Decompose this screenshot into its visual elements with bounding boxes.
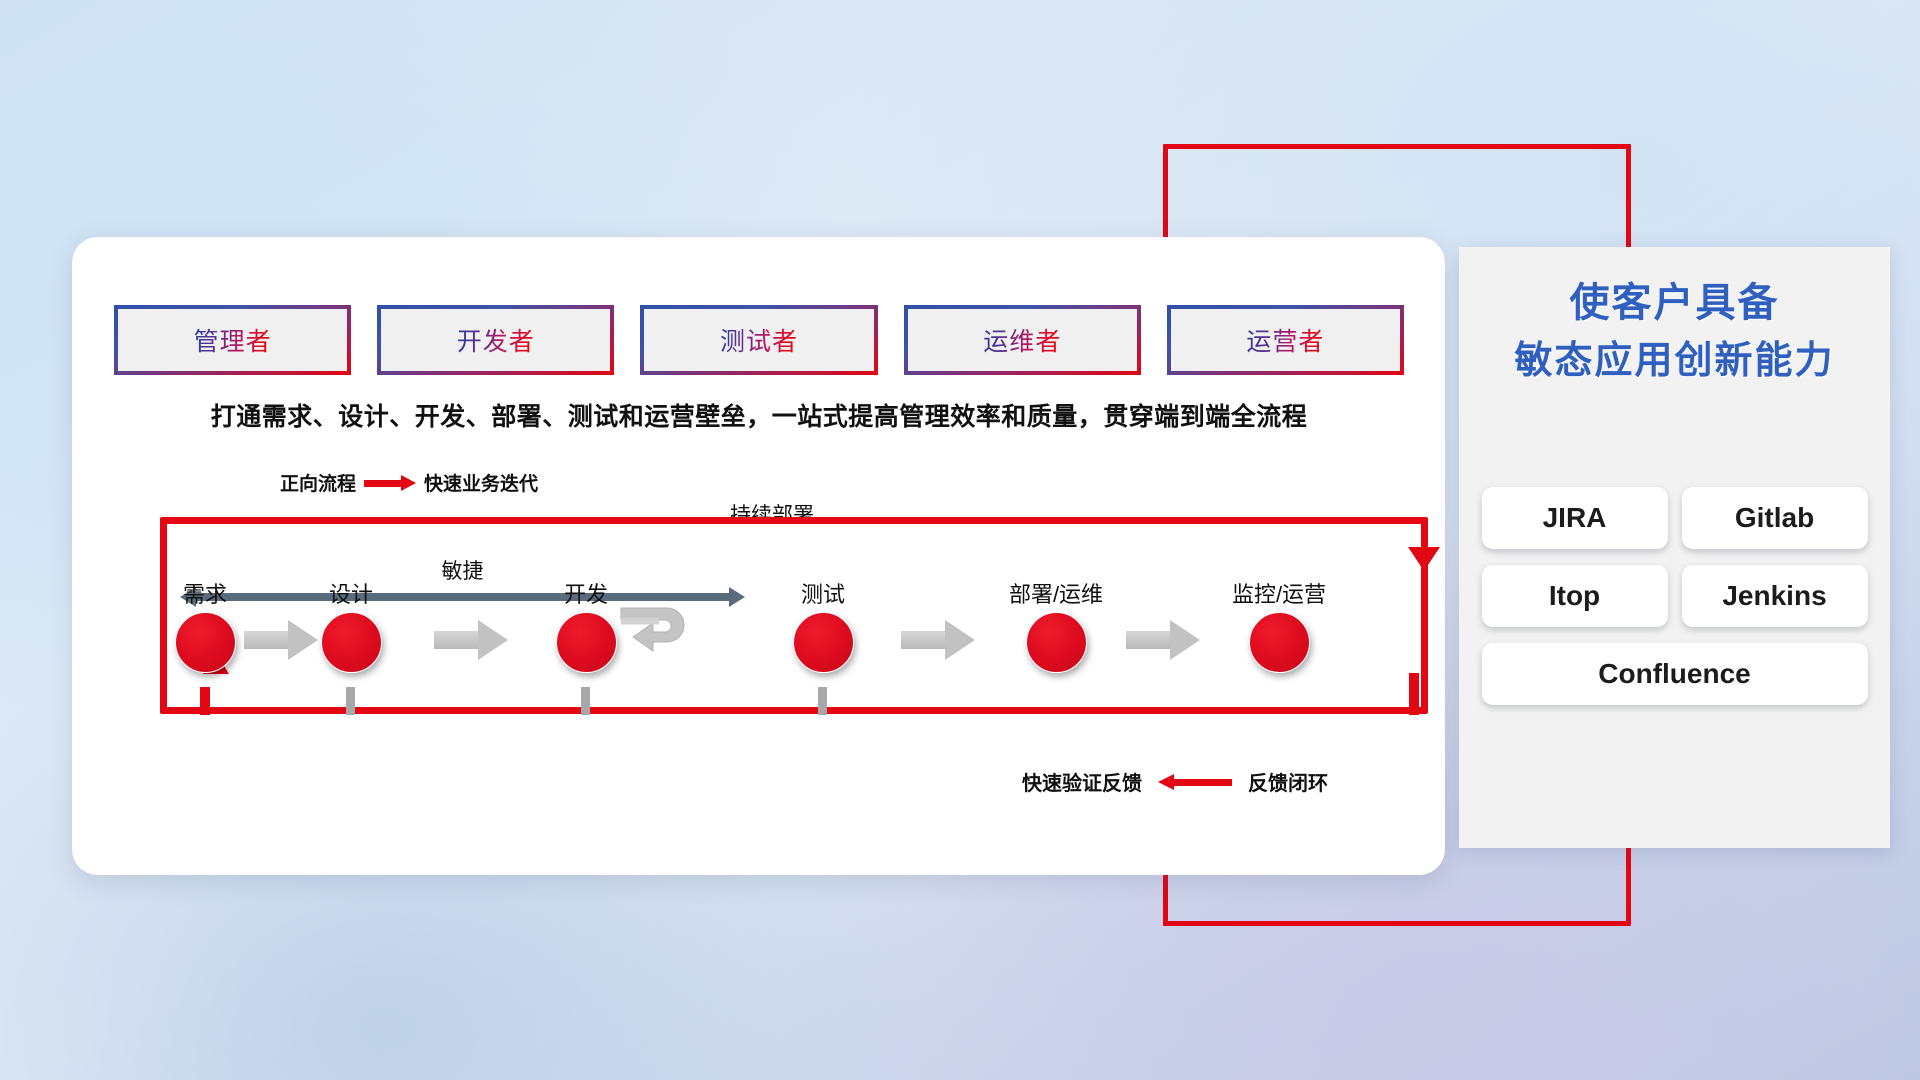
main-content-card: 管理者 开发者 测试者 运维者 运营者 打通需求、设计、开发、部署、测试和运营壁… xyxy=(72,237,1445,875)
node-dot-icon xyxy=(1026,612,1087,673)
stem-requirement xyxy=(200,687,210,715)
red-arrow-right-icon xyxy=(364,475,416,491)
panel-title-line-2: 敏态应用创新能力 xyxy=(1459,333,1890,390)
loop-arrow-down-icon xyxy=(1408,547,1440,571)
feedback-closed-loop-label: 反馈闭环 xyxy=(1248,767,1328,796)
pipeline-node-deploy-ops[interactable]: 部署/运维 xyxy=(981,577,1131,673)
tool-chip-confluence[interactable]: Confluence xyxy=(1482,643,1868,705)
role-box-tester[interactable]: 测试者 xyxy=(640,305,877,375)
node-label: 部署/运维 xyxy=(981,577,1131,609)
node-dot-icon xyxy=(321,612,382,673)
node-dot-icon xyxy=(175,612,236,673)
node-label: 需求 xyxy=(130,577,280,609)
node-dot-icon xyxy=(793,612,854,673)
tagline-text: 打通需求、设计、开发、部署、测试和运营壁垒，一站式提高管理效率和质量，贯穿端到端… xyxy=(114,397,1404,433)
slide-canvas: 管理者 开发者 测试者 运维者 运营者 打通需求、设计、开发、部署、测试和运营壁… xyxy=(0,0,1920,1080)
role-box-ops-engineer[interactable]: 运维者 xyxy=(904,305,1141,375)
stem-monitor xyxy=(1409,673,1419,715)
feedback-loop-legend: 快速验证反馈 反馈闭环 xyxy=(1022,767,1328,796)
flow-arrow-icon-4 xyxy=(1126,620,1200,660)
pipeline-node-test[interactable]: 测试 xyxy=(748,577,898,673)
role-label: 运营者 xyxy=(1246,322,1324,358)
panel-title-line-1: 使客户具备 xyxy=(1459,273,1890,333)
tool-chip-grid: JIRA Gitlab Itop Jenkins Confluence xyxy=(1468,487,1881,705)
role-box-developer[interactable]: 开发者 xyxy=(377,305,614,375)
role-box-row: 管理者 开发者 测试者 运维者 运营者 xyxy=(114,305,1404,375)
fast-iteration-label: 快速业务迭代 xyxy=(424,469,538,496)
flow-arrow-icon-1 xyxy=(244,620,318,660)
node-dot-icon xyxy=(556,612,617,673)
node-label: 设计 xyxy=(276,577,426,609)
devops-pipeline: 需求 设计 开发 测试 部署/运维 监控/运营 xyxy=(116,577,1406,727)
value-proposition-panel: 使客户具备 敏态应用创新能力 JIRA Gitlab Itop Jenkins … xyxy=(1459,247,1890,848)
stem-design xyxy=(346,687,355,715)
flow-arrow-icon-3 xyxy=(901,620,975,660)
stem-test xyxy=(818,687,827,715)
node-label: 监控/运营 xyxy=(1204,577,1354,609)
role-box-manager[interactable]: 管理者 xyxy=(114,305,351,375)
forward-flow-legend: 正向流程 快速业务迭代 xyxy=(280,469,538,496)
role-box-operator[interactable]: 运营者 xyxy=(1167,305,1404,375)
stem-develop xyxy=(581,687,590,715)
forward-flow-label: 正向流程 xyxy=(280,469,356,496)
fast-validation-label: 快速验证反馈 xyxy=(1022,767,1142,796)
tool-chip-jira[interactable]: JIRA xyxy=(1482,487,1668,549)
role-label: 运维者 xyxy=(983,322,1061,358)
panel-title: 使客户具备 敏态应用创新能力 xyxy=(1459,247,1890,390)
node-label: 测试 xyxy=(748,577,898,609)
tool-chip-gitlab[interactable]: Gitlab xyxy=(1682,487,1868,549)
flow-arrow-icon-2 xyxy=(434,620,508,660)
tool-chip-jenkins[interactable]: Jenkins xyxy=(1682,565,1868,627)
node-dot-icon xyxy=(1249,612,1310,673)
loop-back-arrow-icon xyxy=(619,595,703,663)
pipeline-node-monitor-operate[interactable]: 监控/运营 xyxy=(1204,577,1354,673)
tool-chip-itop[interactable]: Itop xyxy=(1482,565,1668,627)
role-label: 管理者 xyxy=(194,322,272,358)
red-arrow-left-icon xyxy=(1158,774,1232,790)
role-label: 测试者 xyxy=(720,322,798,358)
role-label: 开发者 xyxy=(457,322,535,358)
